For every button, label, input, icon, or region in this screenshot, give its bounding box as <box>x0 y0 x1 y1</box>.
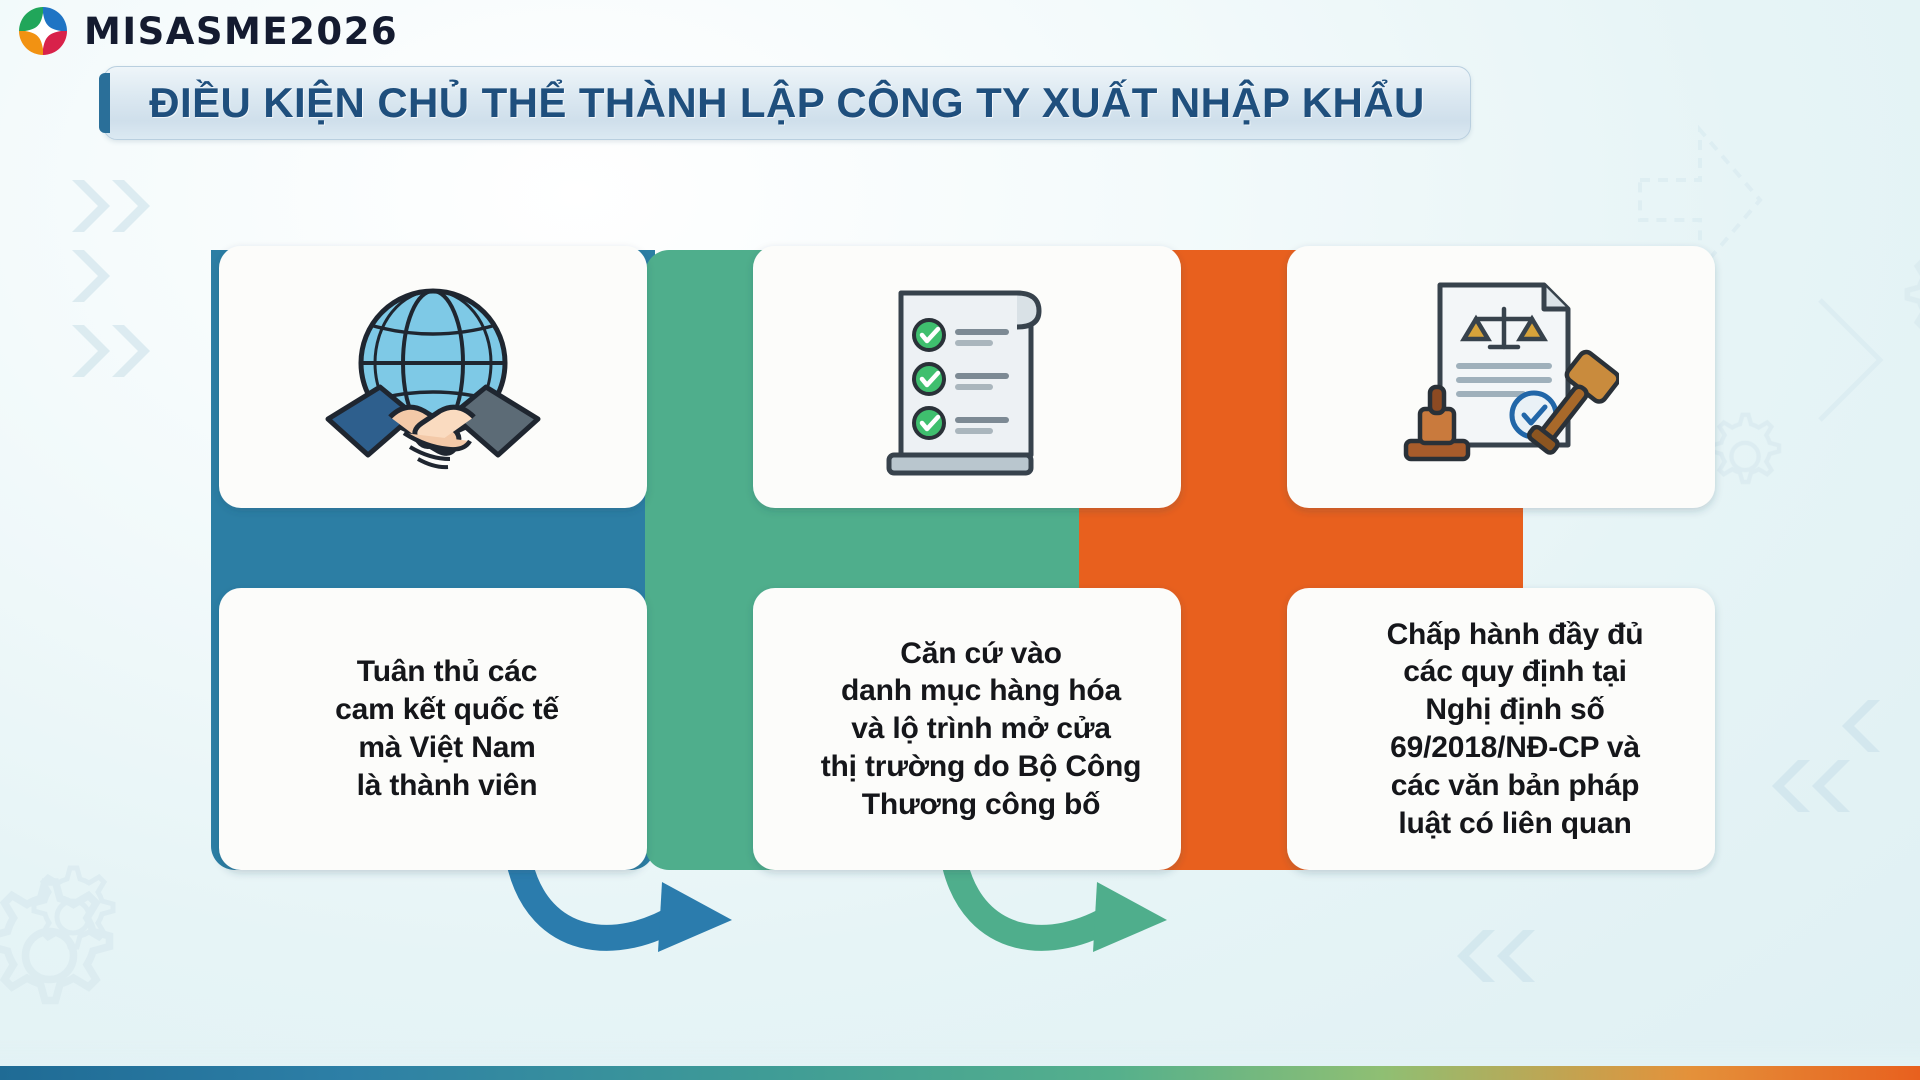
step-3-text: Chấp hành đầy đủ các quy định tại Nghị đ… <box>1287 588 1743 870</box>
step-1-text: Tuân thủ các cam kết quốc tế mà Việt Nam… <box>219 588 675 870</box>
step-2-text: Căn cứ vào danh mục hàng hóa và lộ trình… <box>753 588 1209 870</box>
